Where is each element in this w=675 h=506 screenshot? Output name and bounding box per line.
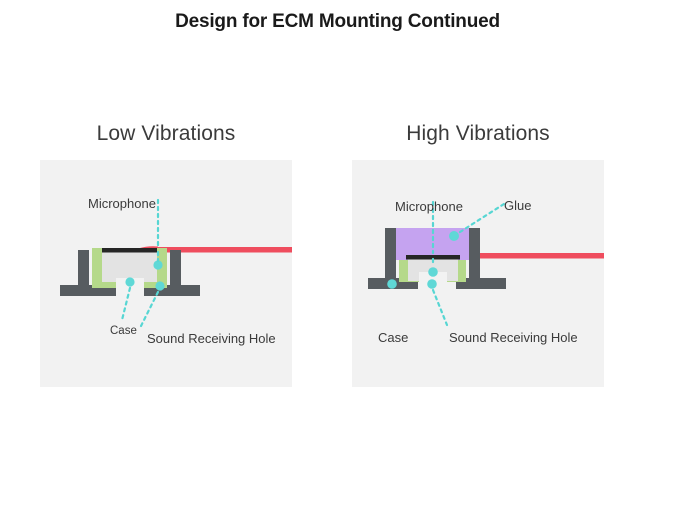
high-vibrations-diagram: [352, 160, 604, 387]
diagram-panel-low-vibrations: Microphone Case Sound Receiving Hole: [40, 160, 292, 387]
callout-dot-sound-receiving-hole: [427, 279, 437, 289]
panel-heading-low-vibrations: Low Vibrations: [40, 122, 292, 146]
label-case: Case: [378, 330, 408, 345]
page-title: Design for ECM Mounting Continued: [0, 11, 675, 33]
slide-canvas: Design for ECM Mounting Continued Low Vi…: [0, 0, 675, 506]
case-wall-right: [469, 228, 480, 283]
callout-dot-case: [125, 277, 134, 286]
microphone-top-bar: [102, 248, 157, 253]
label-case: Case: [110, 325, 137, 337]
callout-dot-case: [387, 279, 397, 289]
case-wall-left: [78, 250, 89, 290]
case-wall-right: [170, 250, 181, 290]
label-microphone: Microphone: [395, 199, 463, 214]
callout-line-glue: [460, 204, 504, 232]
callout-dot-microphone: [428, 267, 438, 277]
diagram-panel-high-vibrations: Microphone Glue Case Sound Receiving Hol…: [352, 160, 604, 387]
label-microphone: Microphone: [88, 196, 156, 211]
callout-line-sound-receiving-hole: [433, 290, 447, 325]
low-vibrations-diagram: [40, 160, 292, 387]
label-sound-receiving-hole: Sound Receiving Hole: [449, 330, 578, 345]
case-wall-left: [385, 228, 396, 283]
callout-line-sound-receiving-hole: [140, 292, 158, 328]
callout-dot-sound-receiving-hole: [155, 281, 164, 290]
panel-heading-high-vibrations: High Vibrations: [352, 122, 604, 146]
callout-dot-glue: [449, 231, 459, 241]
label-glue: Glue: [504, 198, 531, 213]
label-sound-receiving-hole: Sound Receiving Hole: [147, 331, 276, 346]
wire-red: [472, 253, 604, 259]
